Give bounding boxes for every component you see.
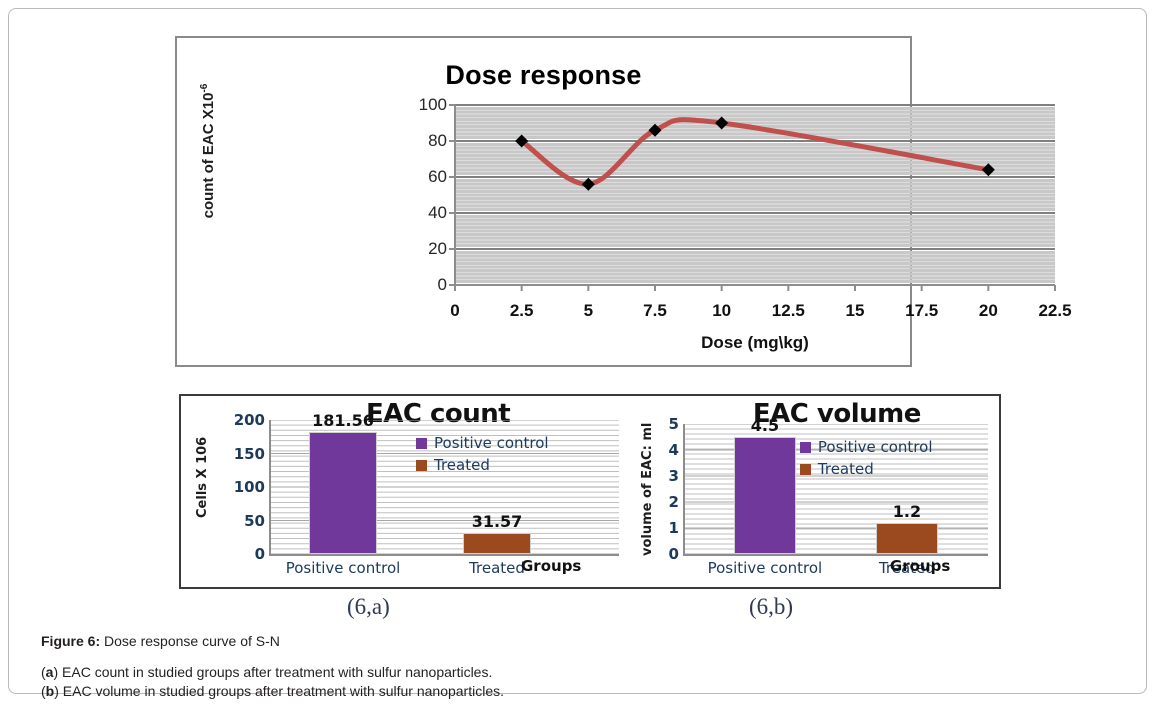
y-axis-label-text: count of EAC X10 (200, 93, 217, 219)
category-label: Positive control (286, 559, 401, 577)
bar-value-label: 1.2 (893, 502, 921, 521)
legend-label-positive-control: Positive control (818, 438, 933, 456)
legend-item-positive-control: Positive control (800, 438, 933, 456)
y-tick-label: 100 (234, 478, 265, 496)
y-axis-label-eac-count: Cells X 106 (195, 437, 210, 518)
x-tick-dose-response: 5 (584, 301, 593, 321)
y-tick-label: 150 (234, 445, 265, 463)
bar-value-label: 31.57 (472, 512, 523, 531)
y-tick-label: 1 (668, 519, 678, 537)
caption-main-line: Figure 6: Dose response curve of S-N (41, 633, 941, 649)
legend-swatch-treated (416, 460, 427, 471)
bar-treated (876, 523, 938, 554)
caption-b-text: ) EAC volume in studied groups after tre… (54, 683, 504, 699)
bar-charts-panel: EAC count Cells X 106 181.56Positive con… (179, 394, 1001, 589)
caption-a-text: ) EAC count in studied groups after trea… (53, 664, 492, 680)
x-tick-dose-response: 2.5 (510, 301, 534, 321)
legend-eac-volume: Positive control Treated (800, 438, 933, 482)
legend-swatch-treated (800, 464, 811, 475)
x-tick-dose-response: 17.5 (905, 301, 938, 321)
dose-response-line-svg (455, 105, 1055, 285)
legend-label-treated: Treated (818, 460, 874, 478)
caption-figure-text: Dose response curve of S-N (100, 633, 280, 649)
x-tick-dose-response: 15 (846, 301, 865, 321)
category-label: Positive control (708, 559, 823, 577)
figure-caption: Figure 6: Dose response curve of S-N (a)… (41, 633, 941, 701)
x-axis-label-dose-response: Dose (mg\kg) (455, 333, 1055, 353)
category-label: Treated (469, 559, 525, 577)
y-tick-label: 4 (668, 441, 678, 459)
legend-eac-count: Positive control Treated (416, 434, 549, 478)
plot-area-dose-response: Dose (mg\kg) 02040608010002.557.51012.51… (455, 105, 1055, 285)
bar-positive-control (309, 432, 377, 554)
x-tick-dose-response: 10 (712, 301, 731, 321)
y-tick-dose-response: 100 (419, 95, 447, 115)
caption-figure-number: Figure 6: (41, 633, 100, 649)
y-tick-dose-response: 80 (428, 131, 447, 151)
legend-item-treated: Treated (800, 460, 933, 478)
y-tick-label: 0 (668, 545, 678, 563)
legend-item-treated: Treated (416, 456, 549, 474)
caption-subline-a: (a) EAC count in studied groups after tr… (41, 663, 941, 682)
y-axis-label-exponent: -6 (199, 84, 210, 93)
legend-item-positive-control: Positive control (416, 434, 549, 452)
y-tick-label: 5 (668, 415, 678, 433)
x-tick-dose-response: 20 (979, 301, 998, 321)
y-tick-dose-response: 60 (428, 167, 447, 187)
bar-positive-control (734, 437, 796, 554)
y-tick-dose-response: 0 (438, 275, 447, 295)
chart-title-dose-response: Dose response (177, 60, 910, 91)
eac-volume-chart: EAC volume volume of EAC: ml 4.5Positive… (628, 396, 999, 587)
figure-page-frame: Dose response count of EAC X10-6 Dose (m… (8, 8, 1147, 694)
dose-response-chart-panel: Dose response count of EAC X10-6 Dose (m… (175, 36, 912, 367)
legend-label-positive-control: Positive control (434, 434, 549, 452)
subfigure-label-b: (6,b) (749, 594, 793, 620)
x-tick-dose-response: 22.5 (1038, 301, 1071, 321)
x-tick-dose-response: 12.5 (772, 301, 805, 321)
legend-swatch-positive-control (416, 438, 427, 449)
y-tick-label: 2 (668, 493, 678, 511)
y-tick-dose-response: 20 (428, 239, 447, 259)
y-tick-label: 0 (255, 545, 265, 563)
x-tick-dose-response: 7.5 (643, 301, 667, 321)
caption-b-letter: b (46, 683, 55, 699)
x-tick-dose-response: 0 (450, 301, 459, 321)
eac-count-chart: EAC count Cells X 106 181.56Positive con… (181, 396, 628, 587)
y-tick-dose-response: 40 (428, 203, 447, 223)
legend-label-treated: Treated (434, 456, 490, 474)
x-axis-label-eac-count: Groups (521, 557, 581, 575)
y-tick-label: 200 (234, 411, 265, 429)
caption-subline-b: (b) EAC volume in studied groups after t… (41, 682, 941, 701)
legend-swatch-positive-control (800, 442, 811, 453)
y-tick-label: 50 (244, 512, 265, 530)
y-axis-label-eac-volume: volume of EAC: ml (640, 423, 655, 556)
x-axis-label-eac-volume: Groups (890, 557, 950, 575)
bar-treated (463, 533, 531, 554)
bar-value-label: 181.56 (312, 411, 374, 430)
y-tick-label: 3 (668, 467, 678, 485)
bar-value-label: 4.5 (751, 416, 779, 435)
subfigure-label-a: (6,a) (347, 594, 390, 620)
y-axis-label-dose-response: count of EAC X10-6 (199, 56, 217, 246)
